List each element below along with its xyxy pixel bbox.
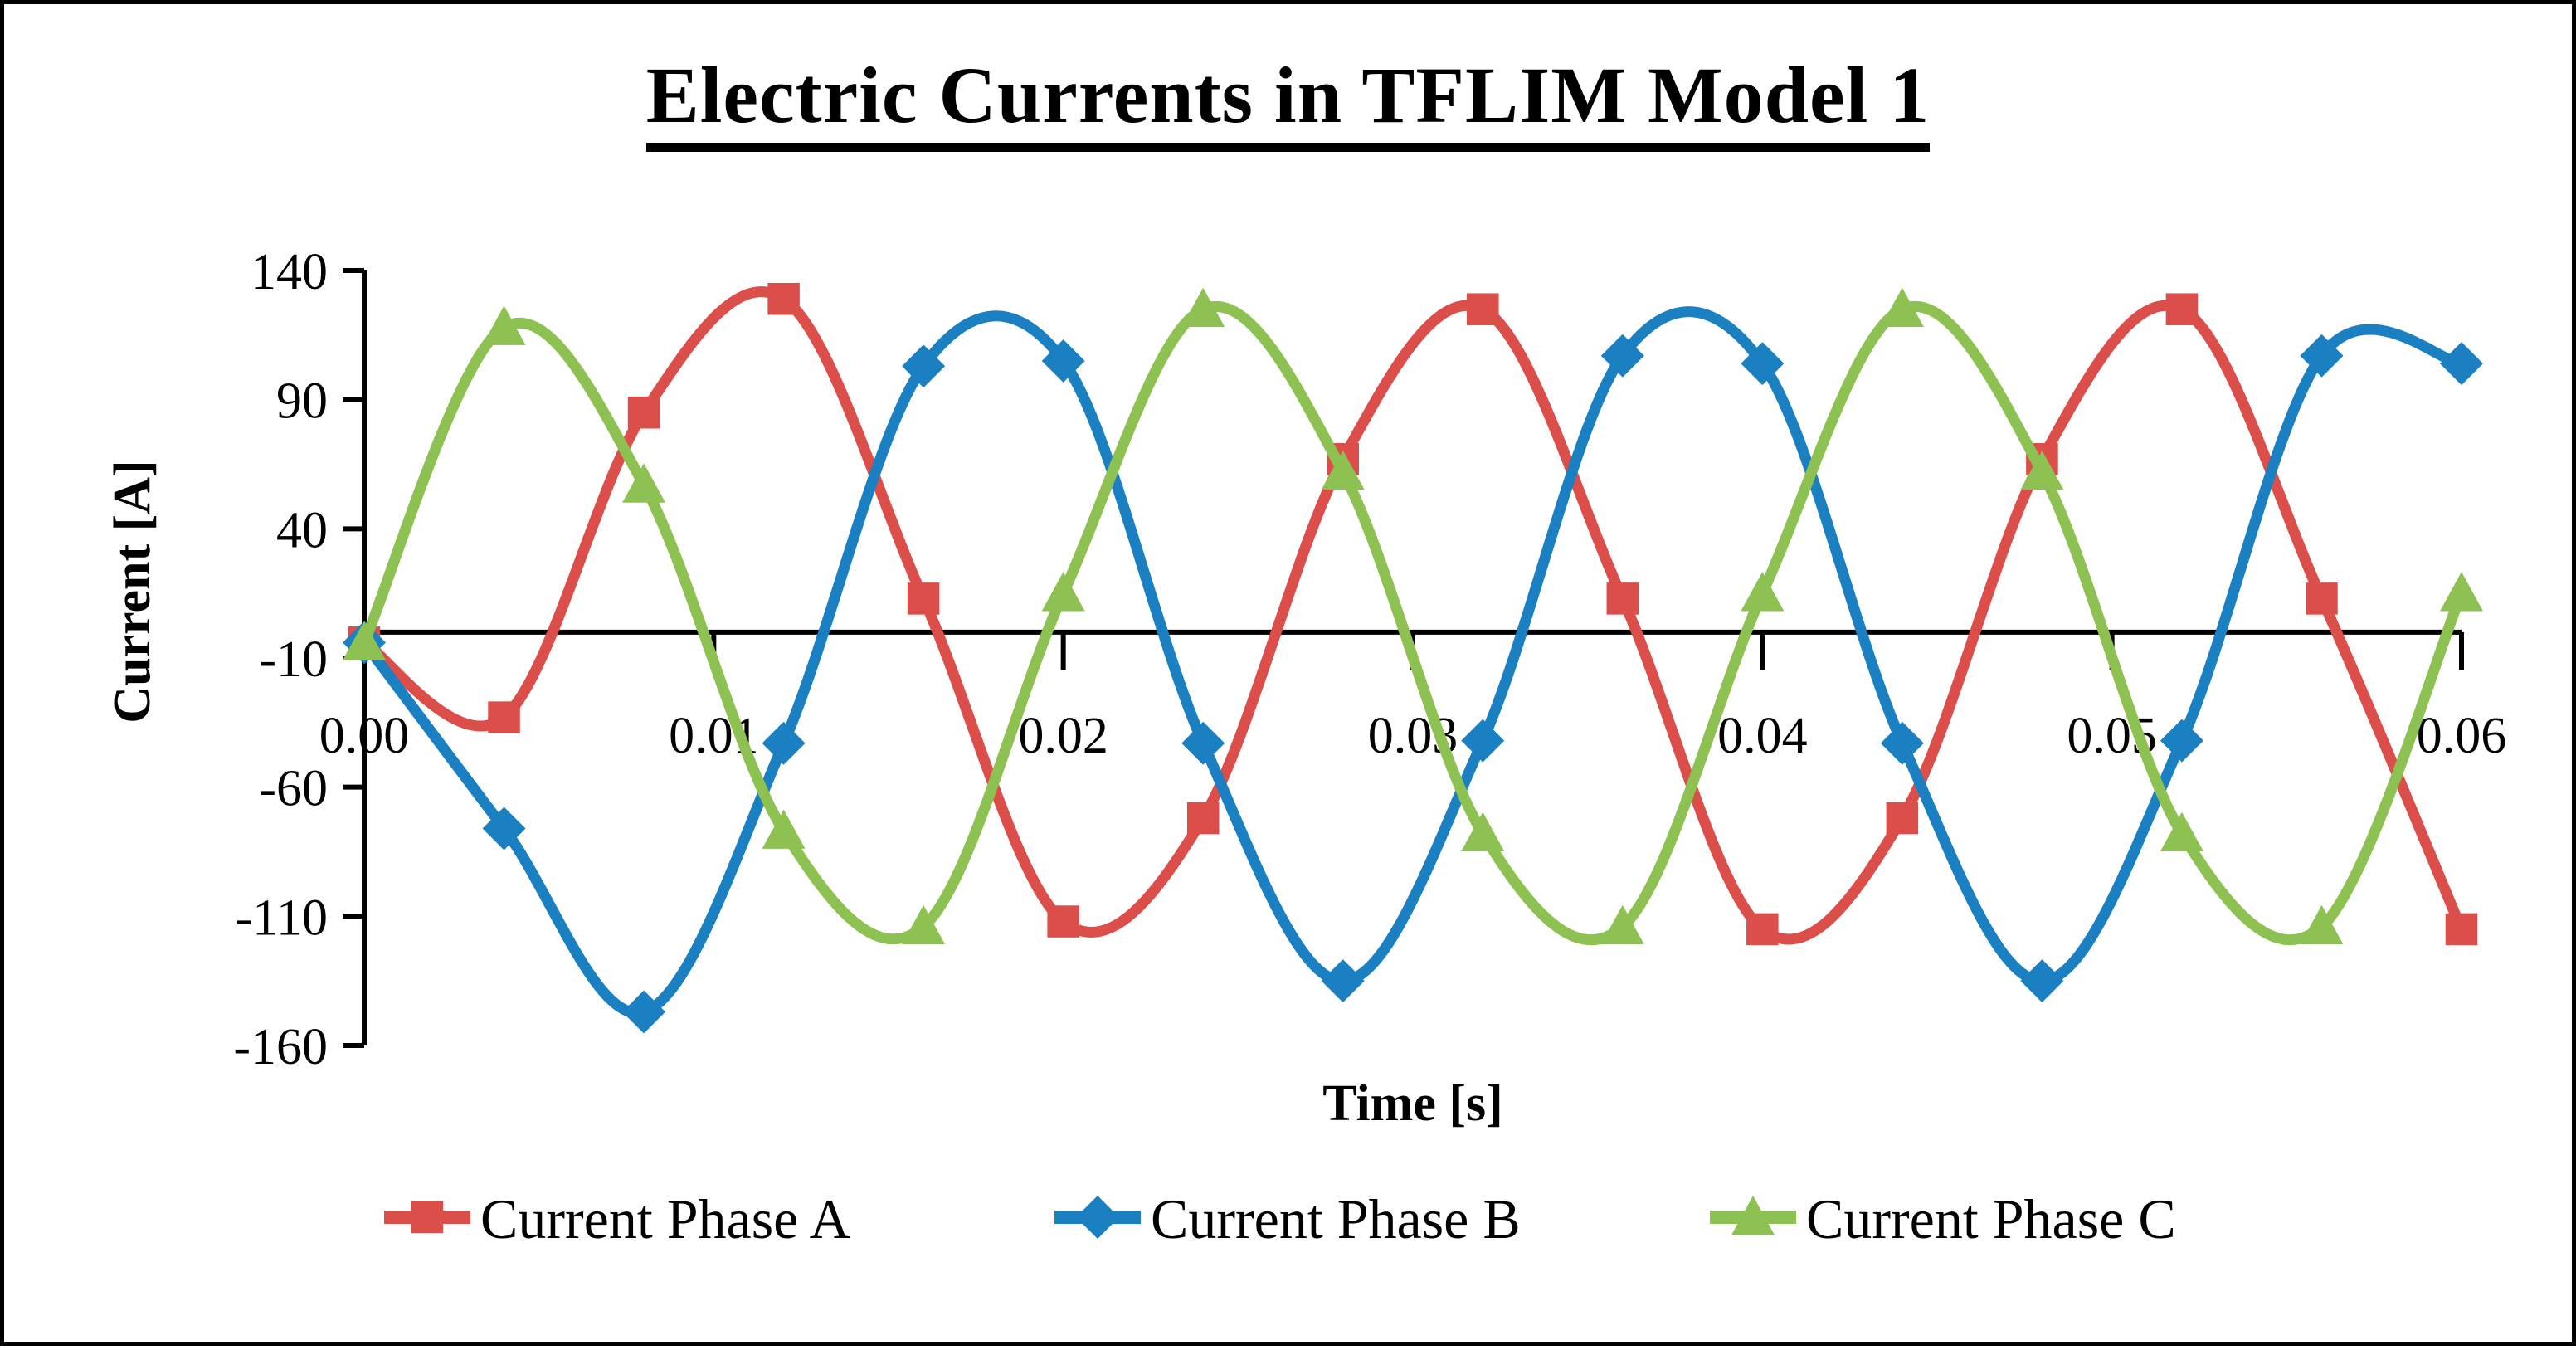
- marker-diamond: [1181, 722, 1225, 765]
- marker-diamond: [1322, 959, 1365, 1002]
- series-line: [364, 306, 2462, 939]
- marker-diamond: [2440, 342, 2483, 385]
- marker-square: [767, 283, 800, 315]
- x-tick-label: 0.06: [2417, 708, 2507, 764]
- marker-square: [2306, 582, 2338, 615]
- marker-square: [628, 397, 660, 429]
- x-tick-label: 0.04: [1717, 708, 1808, 764]
- marker-square: [908, 582, 940, 615]
- y-tick-label: -10: [259, 631, 328, 688]
- y-tick-label: 90: [276, 373, 328, 430]
- marker-square: [1746, 914, 1779, 946]
- legend: Current Phase ACurrent Phase BCurrent Ph…: [384, 1187, 2176, 1250]
- marker-diamond: [1461, 719, 1504, 763]
- marker-square: [2446, 914, 2478, 946]
- legend-label: Current Phase B: [1151, 1187, 1521, 1250]
- marker-triangle: [1461, 812, 1504, 851]
- marker-square: [488, 701, 520, 733]
- chart-figure: Electric Currents in TFLIM Model 1 14090…: [0, 0, 2576, 1346]
- series-line: [364, 292, 2462, 939]
- legend-item-1[interactable]: Current Phase A: [384, 1187, 850, 1250]
- marker-square: [2166, 293, 2199, 325]
- marker-triangle: [1042, 572, 1085, 611]
- y-axis-title: Current [A]: [105, 460, 161, 723]
- y-tick-label: -60: [259, 761, 328, 817]
- x-tick-label: 0.02: [1018, 708, 1108, 764]
- legend-label: Current Phase C: [1806, 1187, 2176, 1250]
- legend-item-2[interactable]: Current Phase B: [1054, 1187, 1521, 1250]
- x-axis-title: Time [s]: [1322, 1075, 1503, 1132]
- x-tick-label: 0.00: [319, 708, 410, 764]
- legend-item-3[interactable]: Current Phase C: [1710, 1187, 2176, 1250]
- marker-triangle: [2160, 812, 2203, 851]
- marker-diamond: [2020, 959, 2063, 1002]
- marker-triangle: [2440, 572, 2483, 611]
- marker-square: [1607, 582, 1639, 615]
- marker-diamond: [1076, 1196, 1119, 1239]
- y-tick-label: -160: [233, 1019, 328, 1075]
- marker-square: [1887, 802, 1919, 835]
- marker-diamond: [762, 722, 806, 765]
- marker-square: [1187, 802, 1220, 835]
- marker-square: [1047, 905, 1079, 938]
- y-tick-label: -110: [236, 889, 328, 946]
- marker-triangle: [622, 463, 665, 502]
- plot-area: 1409040-10-60-110-1600.000.010.020.030.0…: [4, 4, 2576, 1350]
- marker-triangle: [1741, 572, 1784, 611]
- marker-diamond: [2160, 719, 2203, 763]
- marker-diamond: [1881, 722, 1924, 765]
- marker-square: [1467, 293, 1499, 325]
- series-1: [348, 283, 2478, 945]
- marker-square: [411, 1201, 444, 1234]
- y-tick-label: 40: [276, 502, 328, 558]
- legend-label: Current Phase A: [480, 1187, 850, 1250]
- y-tick-label: 140: [251, 244, 328, 300]
